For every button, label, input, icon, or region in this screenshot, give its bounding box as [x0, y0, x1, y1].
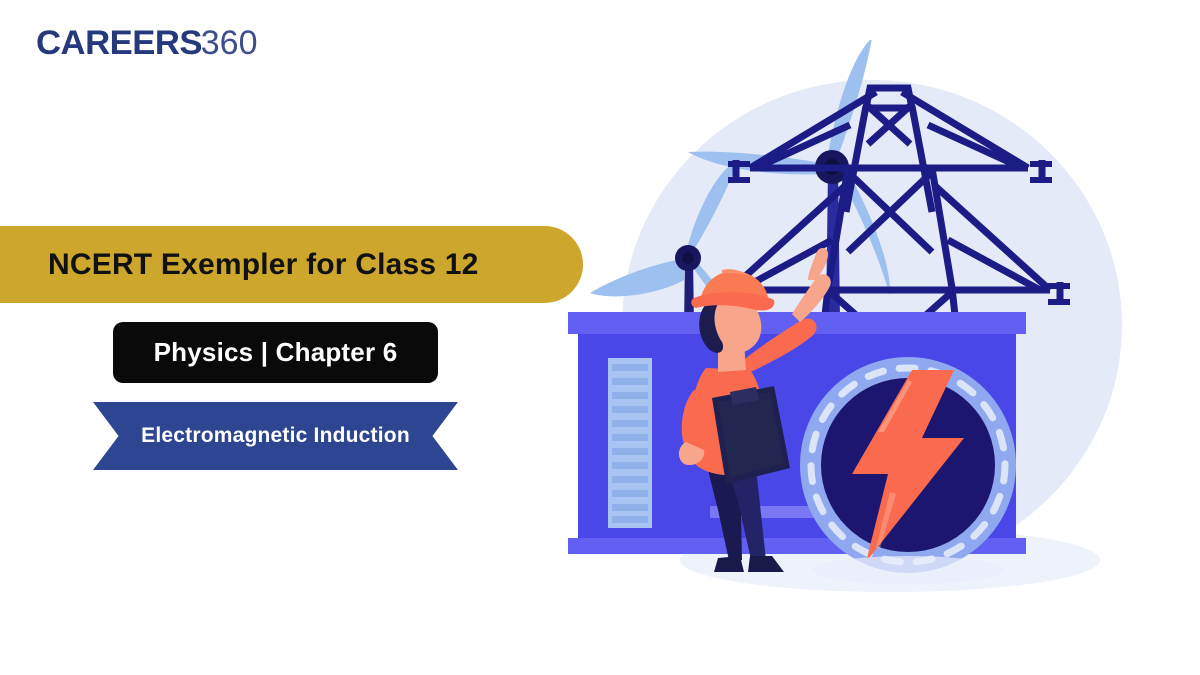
turbine-small-hub-inner — [682, 252, 694, 264]
topic-ribbon-banner: Electromagnetic Induction — [93, 402, 458, 470]
careers360-logo[interactable]: CAREERS 360 — [36, 24, 257, 63]
lightning-bolt-badge — [800, 357, 1016, 573]
worker-shoe-back — [714, 556, 744, 572]
subject-label: Physics | Chapter 6 — [154, 337, 398, 368]
page-title: NCERT Exempler for Class 12 — [48, 248, 479, 282]
building-louver-panel — [608, 358, 652, 528]
topic-label: Electromagnetic Induction — [141, 424, 410, 448]
subject-banner: Physics | Chapter 6 — [113, 322, 438, 383]
poster-canvas: CAREERS 360 NCERT Exempler for Class 12 … — [0, 0, 1200, 675]
logo-text-careers: CAREERS — [36, 24, 202, 63]
logo-text-360: 360 — [201, 24, 258, 63]
illustration — [560, 40, 1200, 640]
badge-shadow — [812, 556, 1004, 584]
title-banner: NCERT Exempler for Class 12 — [0, 226, 583, 303]
